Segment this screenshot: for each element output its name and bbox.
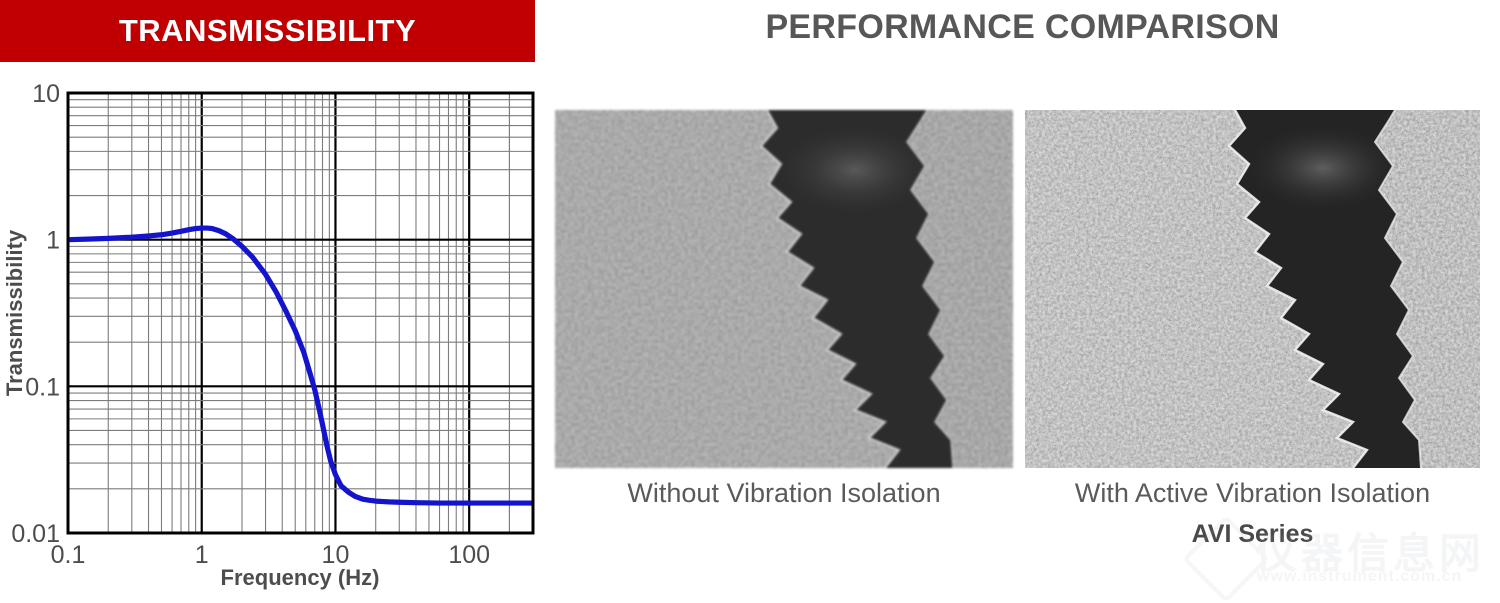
caption-without-isolation: Without Vibration Isolation <box>555 478 1013 509</box>
x-tick-label: 100 <box>448 541 490 569</box>
performance-comparison-panel: PERFORMANCE COMPARISON <box>545 0 1500 600</box>
y-tick-label: 1 <box>46 227 60 255</box>
transmissibility-banner: TRANSMISSIBILITY <box>0 0 535 62</box>
caption-with-isolation: With Active Vibration Isolation <box>1015 478 1490 509</box>
sem-image-right-svg <box>1025 110 1480 468</box>
x-tick-label: 1 <box>195 541 209 569</box>
banner-title: TRANSMISSIBILITY <box>119 13 416 49</box>
transmissibility-chart: 0.1110100 0.010.1110 Frequency (Hz) Tran… <box>0 62 545 600</box>
y-axis-label: Transmissibility <box>2 229 27 396</box>
y-tick-label: 10 <box>32 80 60 108</box>
sem-image-blurred <box>555 110 1013 468</box>
sem-image-sharp <box>1025 110 1480 468</box>
transmissibility-plot: 0.1110100 0.010.1110 Frequency (Hz) Tran… <box>0 62 545 600</box>
y-tick-label: 0.01 <box>11 520 60 548</box>
sem-image-left-svg <box>555 110 1013 468</box>
photo-with-isolation <box>1025 110 1480 468</box>
photo-without-isolation <box>555 110 1013 468</box>
transmissibility-panel: TRANSMISSIBILITY 0.1110100 0.010.1110 Fr… <box>0 0 545 600</box>
x-axis-label: Frequency (Hz) <box>221 565 380 590</box>
performance-heading: PERFORMANCE COMPARISON <box>545 8 1500 47</box>
avi-series-label: AVI Series <box>1015 520 1490 549</box>
y-tick-label: 0.1 <box>25 373 60 401</box>
